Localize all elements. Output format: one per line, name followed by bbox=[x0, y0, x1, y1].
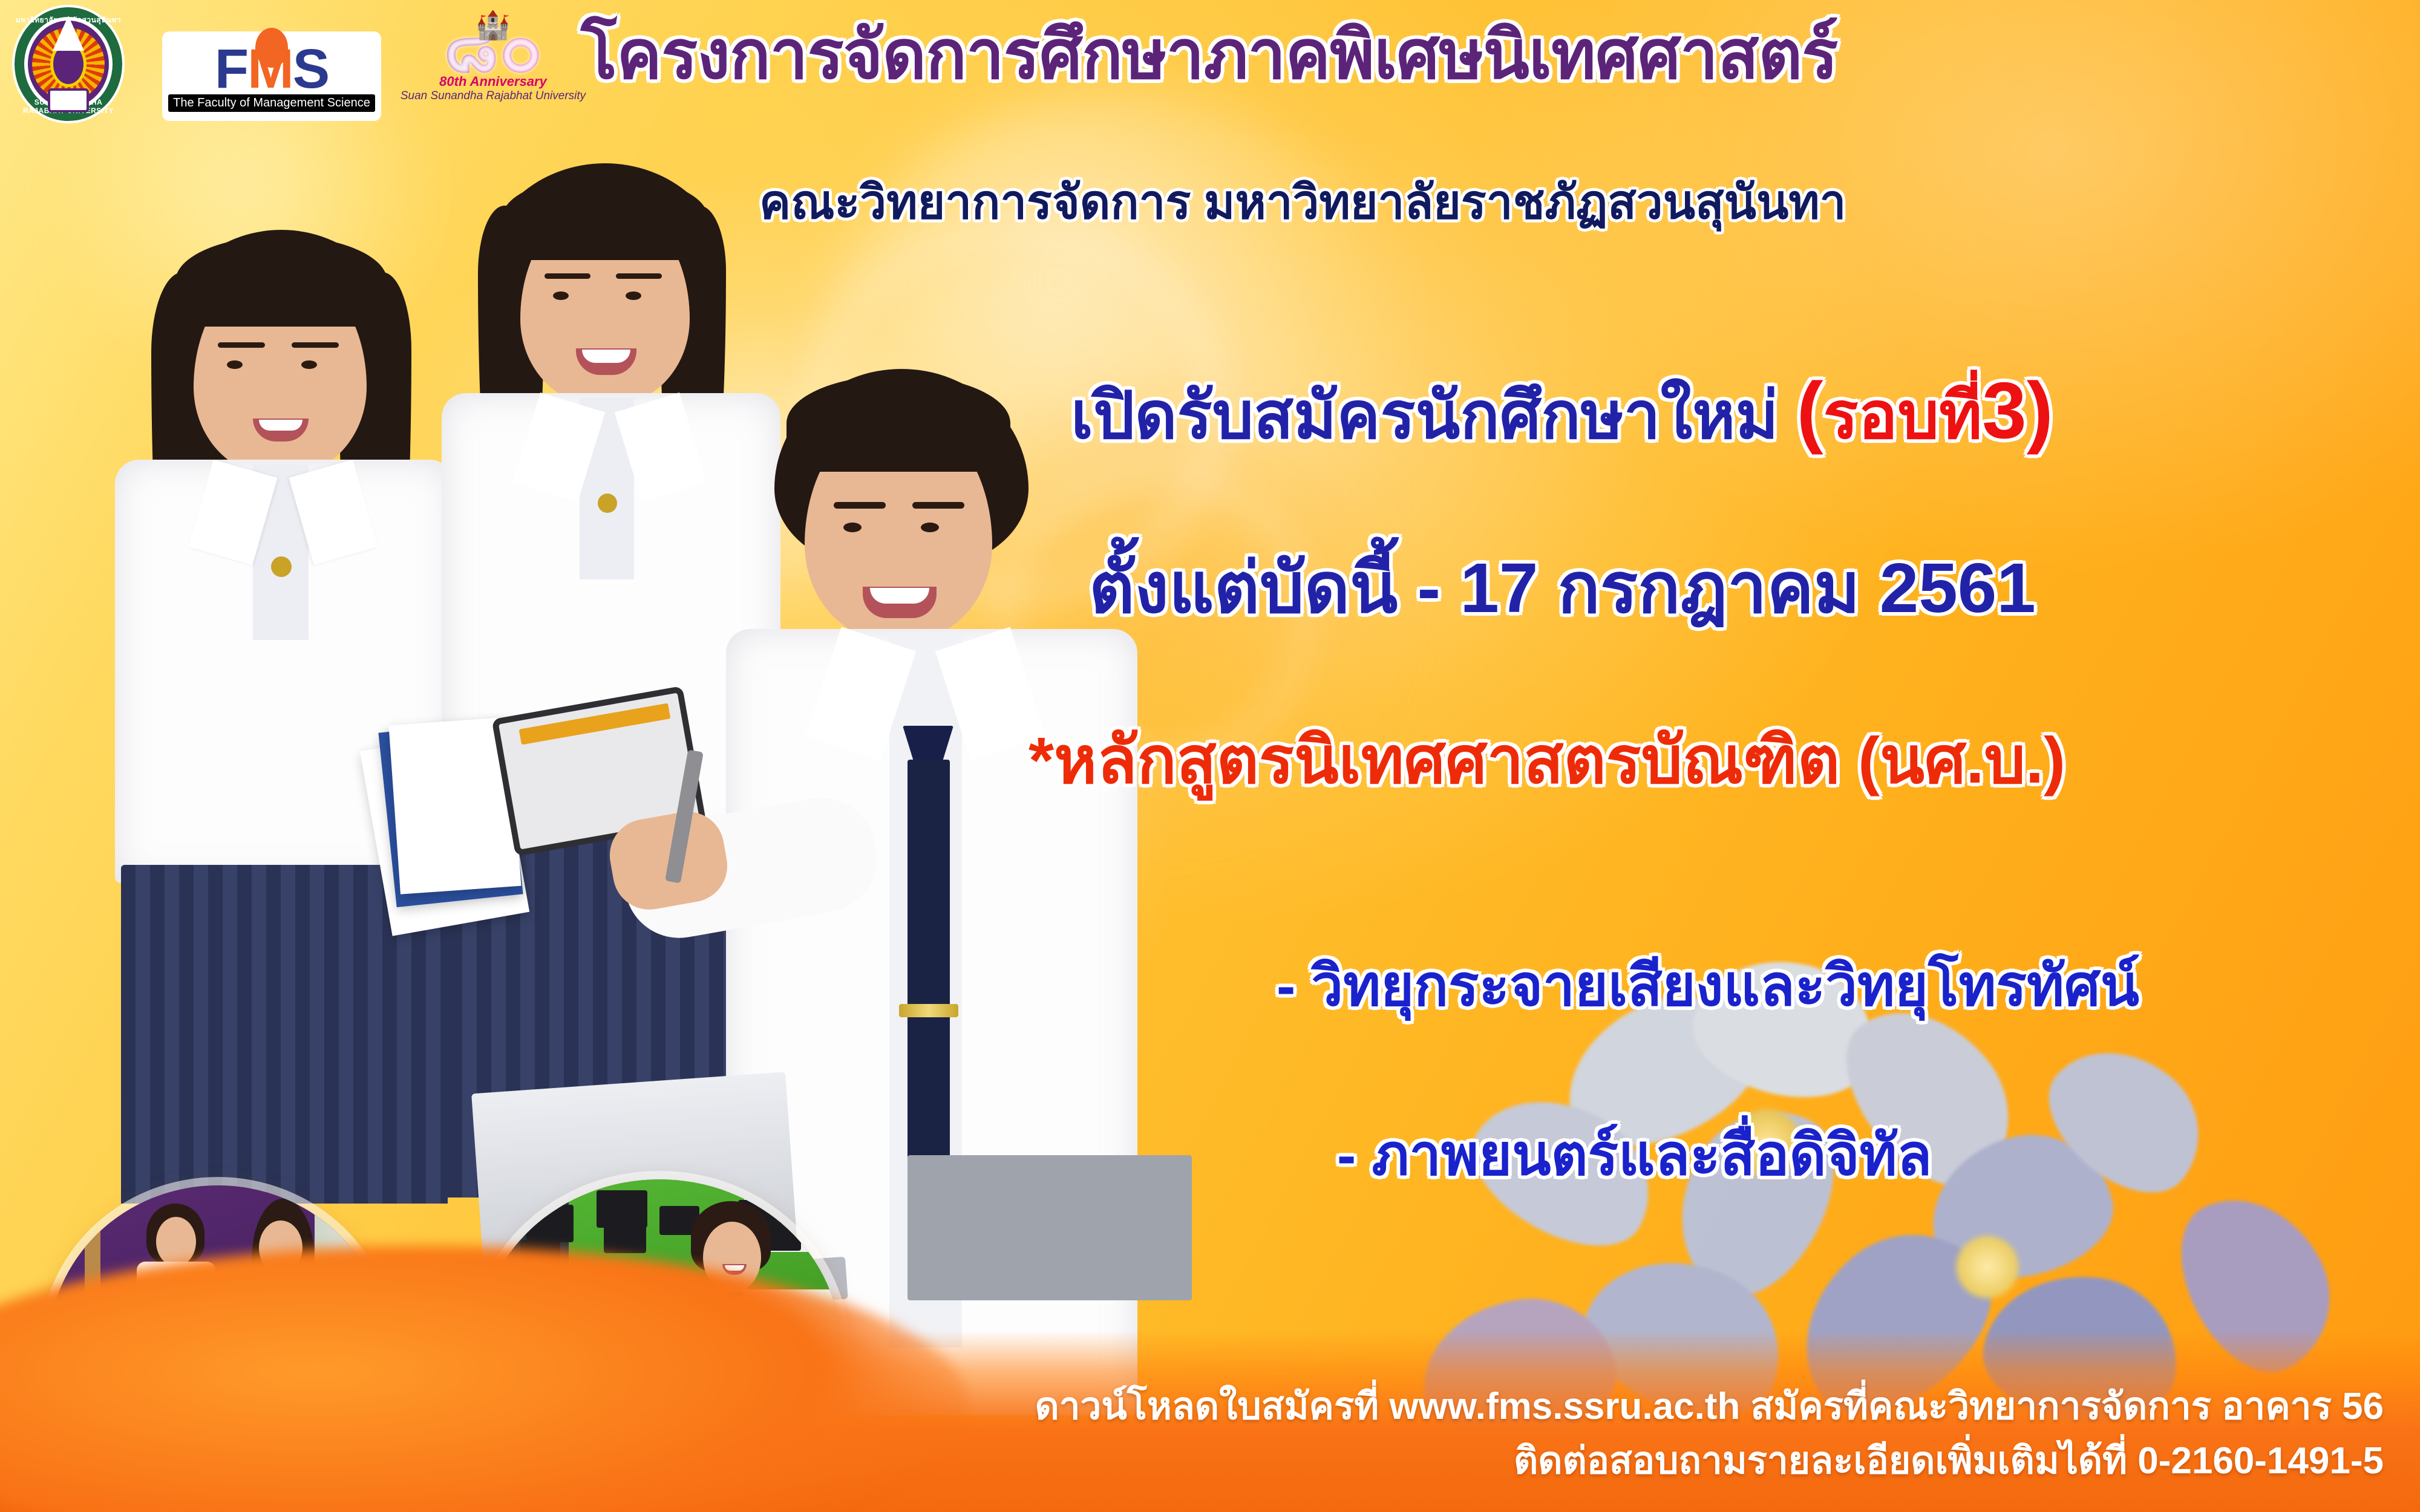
footer-download-info: ดาวน์โหลดใบสมัครที่ www.fms.ssru.ac.th ส… bbox=[1035, 1377, 2384, 1436]
background-ring-3 bbox=[641, 544, 980, 883]
university-seal: มหาวิทยาลัยราชภัฏสวนสุนันทา SUAN SUNANDH… bbox=[12, 5, 125, 123]
anniversary-line1: 80th Anniversary bbox=[399, 74, 587, 90]
admission-headline-text: เปิดรับสมัครนักศึกษาใหม่ bbox=[1071, 379, 1779, 452]
royal-crest-icon: 🏰 bbox=[476, 8, 510, 42]
major-item-1: - วิทยุกระจายเสียงและวิทยุโทรทัศน์ bbox=[1277, 940, 2139, 1031]
admission-headline: เปิดรับสมัครนักศึกษาใหม่ (รอบที่3) bbox=[1071, 363, 2053, 467]
application-period: ตั้งแต่บัดนี้ - 17 กรกฎาคม 2561 bbox=[1089, 532, 2036, 644]
program-name: *หลักสูตรนิเทศศาสตรบัณฑิต (นศ.บ.) bbox=[1028, 708, 2065, 812]
fms-person-head-icon bbox=[255, 28, 288, 68]
round-open-paren: ( bbox=[1797, 366, 1823, 455]
round-label: รอบที่ bbox=[1823, 379, 1983, 452]
round-close-paren: ) bbox=[2027, 366, 2053, 455]
major-item-2: - ภาพยนตร์และสื่อดิจิทัล bbox=[1337, 1110, 1932, 1200]
fms-letter-s: S bbox=[293, 45, 329, 93]
fms-letter-f: F bbox=[215, 45, 247, 93]
fms-logo: F M S The Faculty of Management Science bbox=[162, 31, 381, 121]
round-number: 3 bbox=[1982, 366, 2026, 455]
poster-title: โครงการจัดการศึกษาภาคพิเศษนิเทศศาสตร์ bbox=[581, 21, 2366, 90]
admission-poster: มหาวิทยาลัยราชภัฏสวนสุนันทา SUAN SUNANDH… bbox=[0, 0, 2420, 1512]
footer-contact-info: ติดต่อสอบถามรายละเอียดเพิ่มเติมได้ที่ 0-… bbox=[1514, 1431, 2384, 1490]
anniversary-line2: Suan Sunandha Rajabhat University bbox=[399, 90, 587, 103]
poster-subtitle: คณะวิทยาการจัดการ มหาวิทยาลัยราชภัฏสวนสุ… bbox=[759, 165, 2393, 240]
anniversary-logo: 🏰 ๘๐ 80th Anniversary Suan Sunandha Raja… bbox=[399, 11, 587, 126]
